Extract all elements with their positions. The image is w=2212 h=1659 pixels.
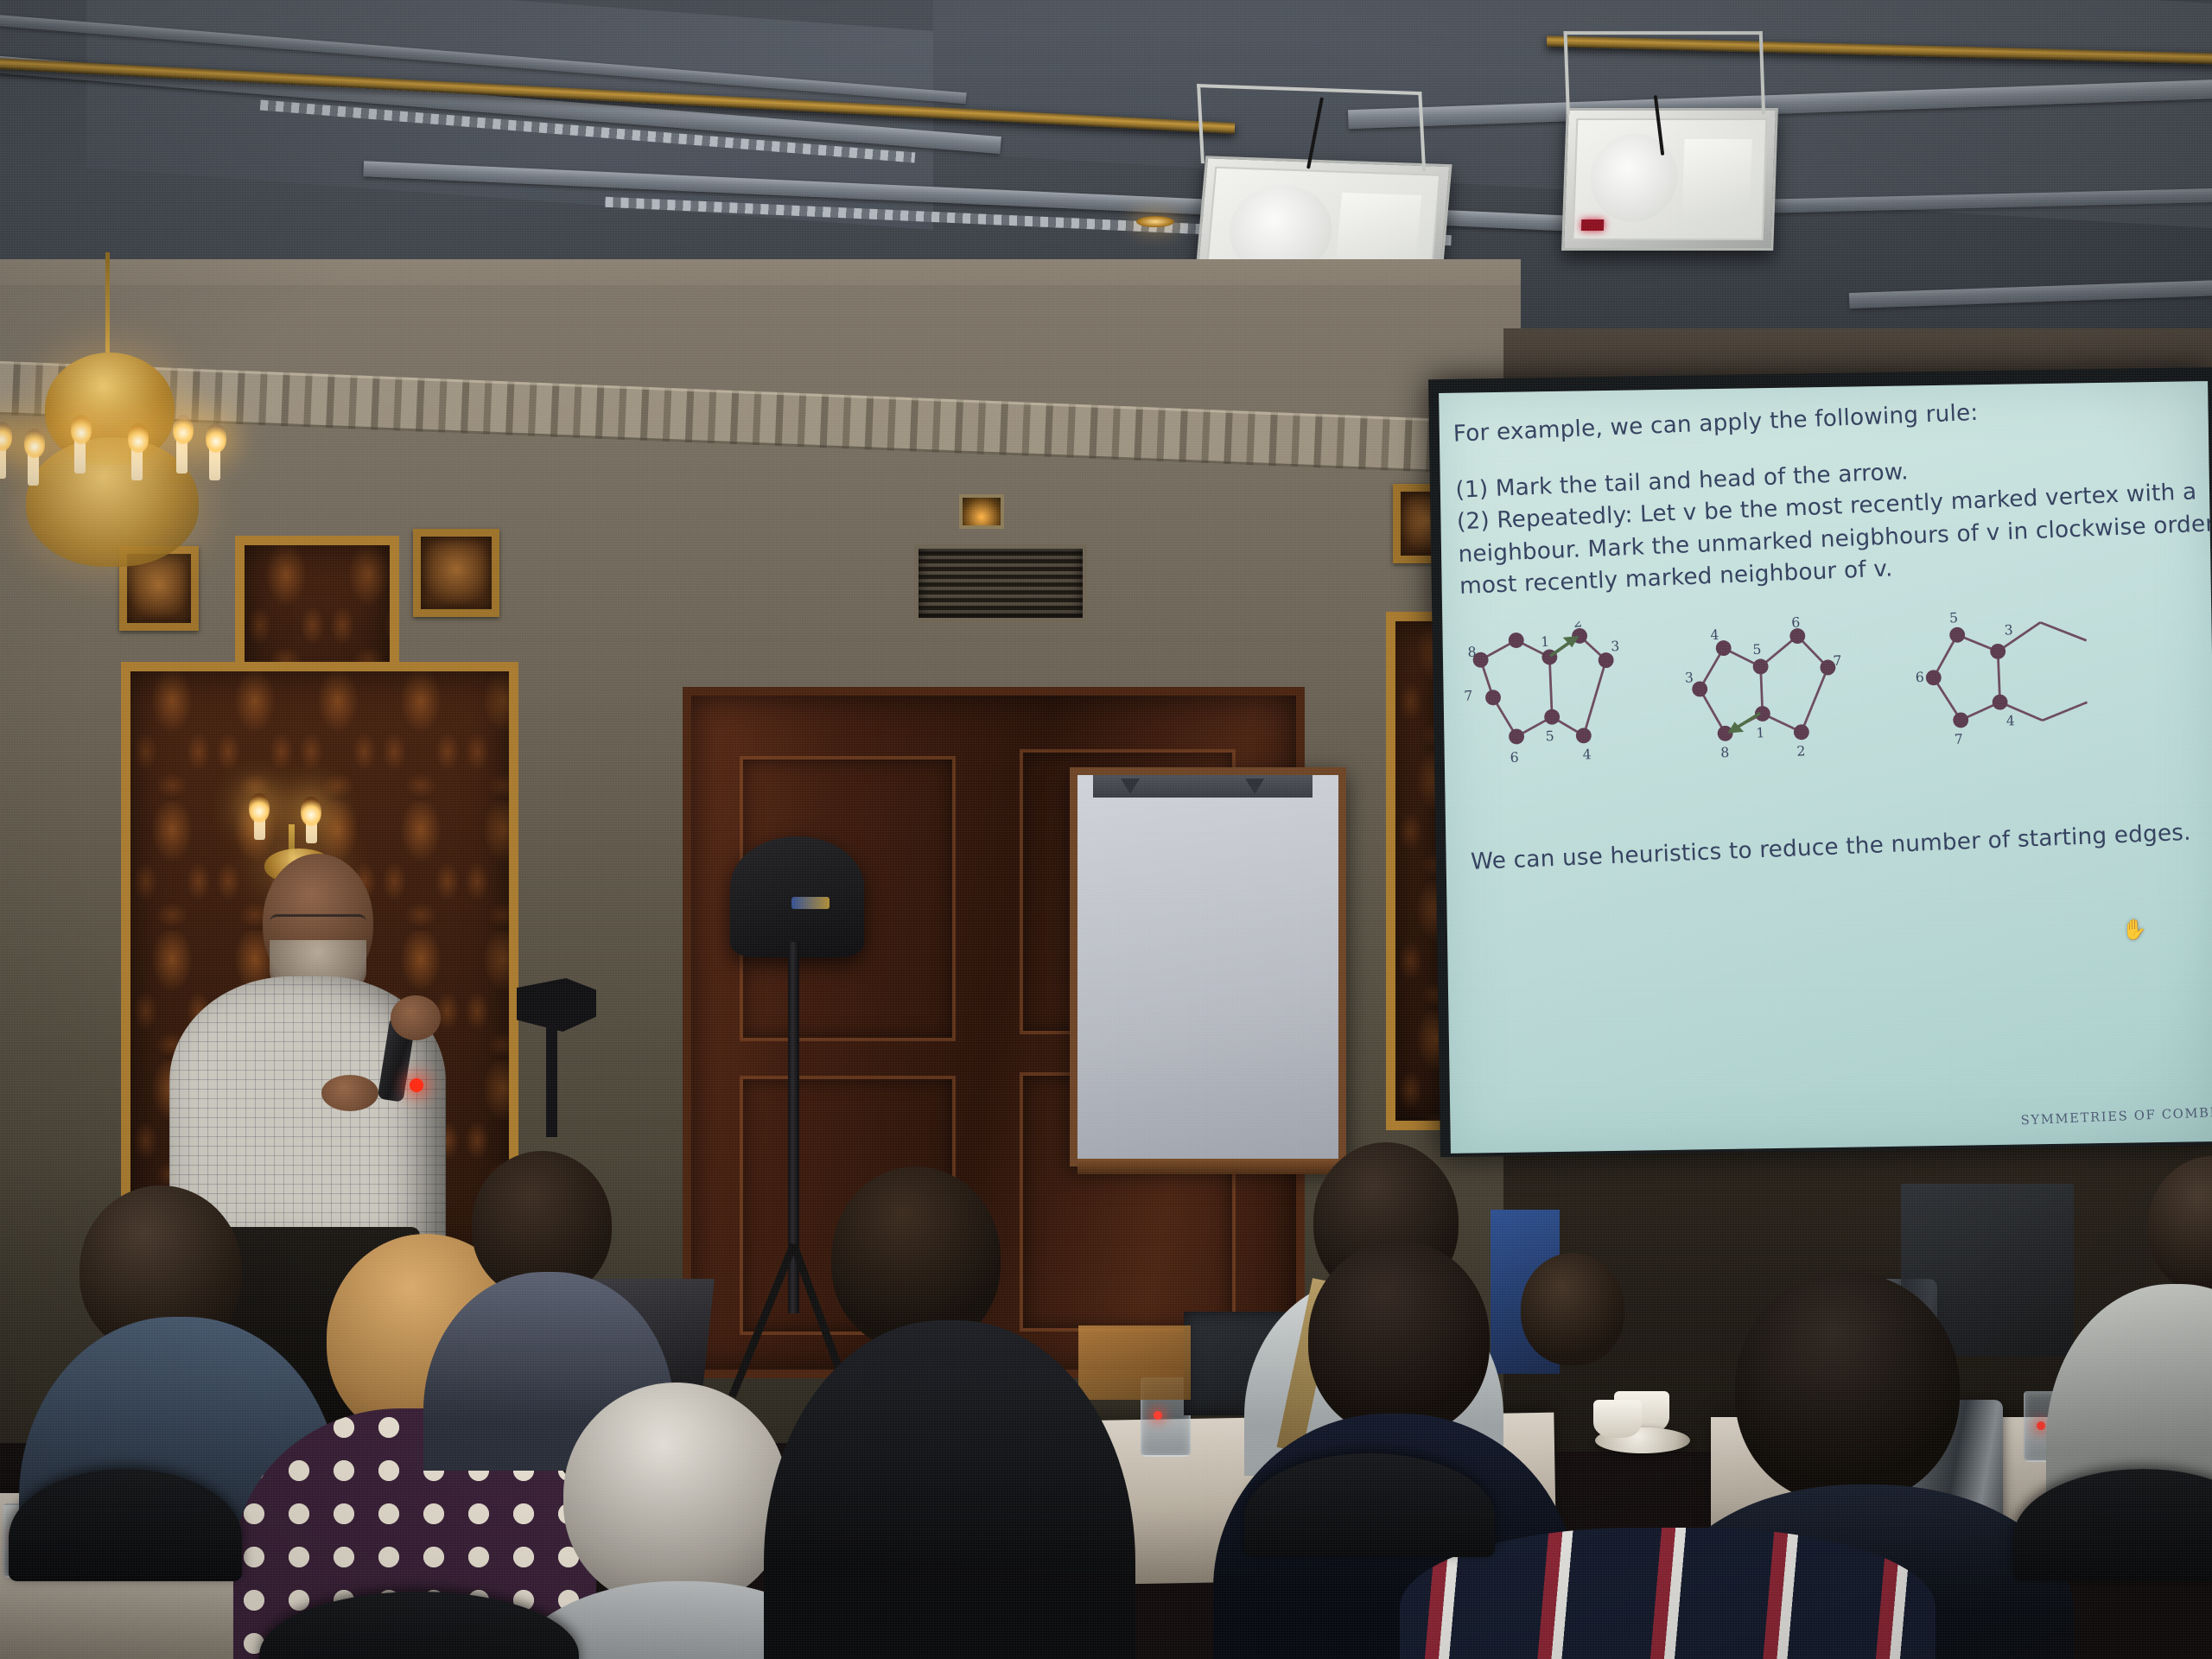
svg-text:7: 7: [1954, 731, 1963, 747]
presenter-hand-right: [391, 995, 441, 1040]
speaker-tweeter-right: [1681, 139, 1751, 217]
svg-text:4: 4: [1710, 626, 1719, 643]
svg-text:3: 3: [1684, 669, 1694, 685]
svg-text:3: 3: [1611, 638, 1620, 654]
flipchart[interactable]: [1070, 767, 1346, 1166]
pa-speaker-badge: [791, 897, 829, 909]
slide-graph-figures: 8 1 2 3 7 5 4 6 4 5 6 3 7 1: [1459, 596, 2209, 799]
svg-text:3: 3: [2004, 621, 2013, 638]
coffee-cup-right: [1593, 1400, 1642, 1438]
projection-screen: For example, we can apply the following …: [1439, 381, 2212, 1154]
chandelier-flame-2: [24, 429, 45, 458]
svg-text:4: 4: [1582, 746, 1592, 762]
presenter-hand-left: [321, 1075, 378, 1111]
svg-text:6: 6: [1791, 613, 1801, 630]
audience-head-7: [1308, 1241, 1490, 1436]
audience-head-8: [1735, 1272, 1960, 1503]
svg-text:5: 5: [1752, 641, 1762, 658]
presenter-glasses: [270, 914, 366, 931]
svg-text:8: 8: [1720, 744, 1730, 760]
graph-figure-svg: 8 1 2 3 7 5 4 6 4 5 6 3 7 1: [1459, 596, 2209, 799]
chandelier-candle-5: [176, 439, 188, 474]
svg-text:2: 2: [1796, 742, 1806, 759]
ceiling-downlight-1: [1136, 216, 1174, 227]
camera-tripod-pole: [546, 1025, 557, 1137]
speaker-led-right: [1581, 219, 1604, 231]
projector-box: [1078, 1325, 1191, 1400]
svg-text:1: 1: [1541, 633, 1550, 650]
photograph-scene: For example, we can apply the following …: [0, 0, 2212, 1659]
audience-head-4: [563, 1382, 788, 1607]
speaker-bracket-right: [1564, 31, 1766, 114]
speaker-grille-right: [1572, 118, 1767, 240]
hand-cursor: ✋: [2121, 918, 2147, 942]
chandelier: [0, 259, 259, 605]
svg-text:4: 4: [2005, 712, 2015, 728]
audience-head-11: [1521, 1253, 1624, 1365]
svg-text:6: 6: [1510, 749, 1519, 766]
chandelier-candle-3: [74, 439, 86, 474]
svg-text:6: 6: [1915, 669, 1924, 685]
sconce-flame-1: [249, 793, 270, 823]
chandelier-flame-3: [71, 415, 92, 444]
slide-content: For example, we can apply the following …: [1439, 381, 2212, 1154]
svg-text:7: 7: [1464, 687, 1473, 703]
pa-speaker-on-stand: [730, 836, 864, 957]
wall-plaque-2: [413, 529, 499, 617]
speaker-woofer-right: [1590, 134, 1679, 221]
svg-text:1: 1: [1756, 724, 1765, 741]
flipchart-clip: [1093, 775, 1313, 798]
chandelier-flame-6: [206, 423, 226, 453]
chandelier-flame-1: [0, 422, 12, 451]
chandelier-flame-5: [173, 415, 194, 444]
vent-indicator-light: [959, 494, 1004, 529]
slide-closing-line: We can use heuristics to reduce the numb…: [1470, 816, 2191, 877]
air-vent-grille: [914, 544, 1087, 622]
microphone-led: [410, 1078, 423, 1092]
flipchart-tray: [1077, 1159, 1338, 1174]
chandelier-flame-4: [128, 423, 149, 453]
svg-text:7: 7: [1833, 652, 1842, 669]
ceiling-speaker-right: [1561, 108, 1778, 251]
svg-text:2: 2: [1573, 613, 1583, 630]
slide-footer: SYMMETRIES OF COMBINATORIAL OBJECTS 17: [2020, 1098, 2212, 1128]
sconce-flame-2: [301, 797, 321, 826]
svg-text:5: 5: [1545, 728, 1554, 744]
svg-text:5: 5: [1949, 609, 1959, 626]
svg-text:8: 8: [1467, 644, 1477, 660]
